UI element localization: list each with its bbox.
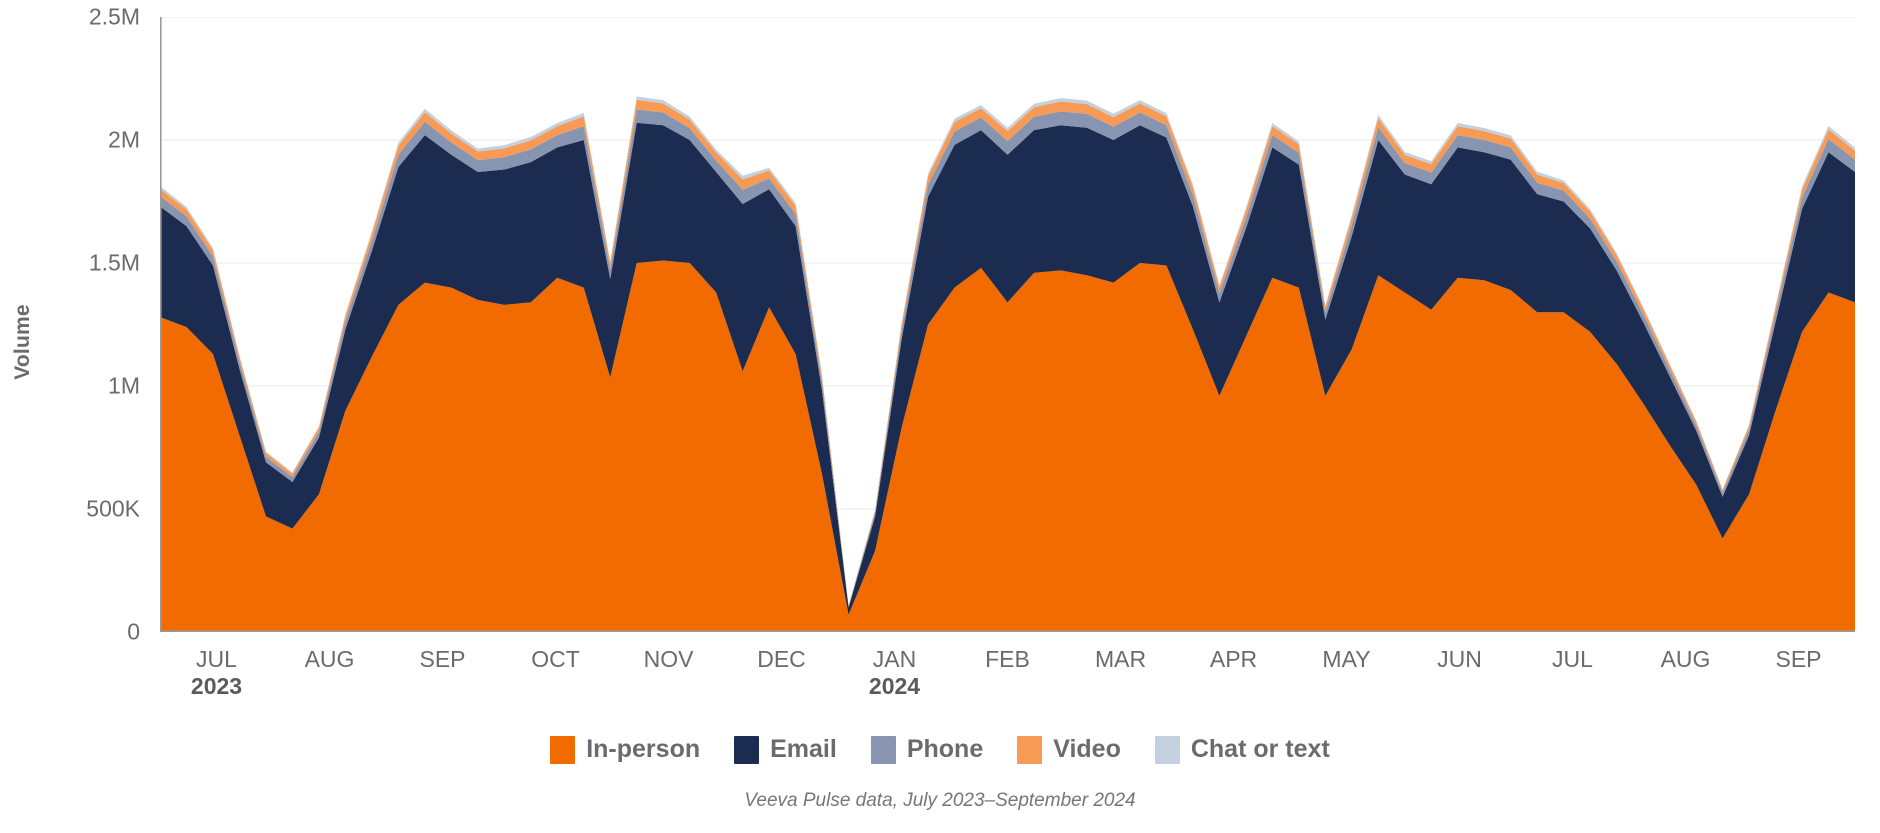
- x-tick-year: 2024: [869, 672, 920, 700]
- legend-swatch-icon: [734, 736, 759, 764]
- y-tick-label: 500K: [86, 496, 140, 523]
- plot-area: [160, 17, 1855, 632]
- x-tick-may-10: MAY: [1322, 632, 1370, 672]
- x-tick-sep-2: SEP: [419, 632, 465, 672]
- x-tick-month: MAY: [1322, 632, 1370, 672]
- x-tick-month: MAR: [1095, 632, 1146, 672]
- y-tick-label: 1M: [108, 373, 140, 400]
- y-tick-label: 0: [127, 619, 140, 646]
- y-tick-label: 2M: [108, 127, 140, 154]
- x-tick-apr-9: APR: [1210, 632, 1257, 672]
- x-tick-month: JUN: [1437, 632, 1482, 672]
- x-tick-sep-14: SEP: [1775, 632, 1821, 672]
- x-tick-month: OCT: [531, 632, 580, 672]
- x-tick-jul-12: JUL: [1552, 632, 1593, 672]
- legend-label: Video: [1053, 735, 1121, 764]
- legend-item-in-person[interactable]: In-person: [550, 735, 700, 764]
- y-axis-tick-labels: 0500K1M1.5M2M2.5M: [46, 0, 150, 833]
- x-tick-jul-0: JUL2023: [191, 632, 242, 700]
- legend-item-email[interactable]: Email: [734, 735, 837, 764]
- x-tick-oct-3: OCT: [531, 632, 580, 672]
- x-tick-month: FEB: [985, 632, 1030, 672]
- y-axis-title-label: Volume: [11, 304, 35, 380]
- x-tick-month: AUG: [1661, 632, 1711, 672]
- x-tick-jan-6: JAN2024: [869, 632, 920, 700]
- x-tick-month: AUG: [305, 632, 355, 672]
- x-tick-month: SEP: [419, 632, 465, 672]
- chart-root: Volume 0500K1M1.5M2M2.5M JUL2023AUGSEPOC…: [0, 0, 1880, 833]
- legend-swatch-icon: [871, 736, 896, 764]
- x-tick-aug-1: AUG: [305, 632, 355, 672]
- legend-label: Chat or text: [1191, 735, 1330, 764]
- x-tick-month: SEP: [1775, 632, 1821, 672]
- y-tick-label: 2.5M: [89, 4, 140, 31]
- legend-item-video[interactable]: Video: [1017, 735, 1121, 764]
- legend-swatch-icon: [1155, 736, 1180, 764]
- y-axis-title: Volume: [0, 287, 46, 397]
- legend-item-phone[interactable]: Phone: [871, 735, 983, 764]
- legend-swatch-icon: [1017, 736, 1042, 764]
- x-tick-month: JUL: [1552, 632, 1593, 672]
- x-tick-aug-13: AUG: [1661, 632, 1711, 672]
- x-tick-nov-4: NOV: [644, 632, 694, 672]
- x-tick-month: NOV: [644, 632, 694, 672]
- stacked-area-plot: [160, 17, 1855, 632]
- legend-label: Email: [770, 735, 837, 764]
- x-tick-dec-5: DEC: [757, 632, 806, 672]
- x-tick-feb-7: FEB: [985, 632, 1030, 672]
- chart-legend: In-personEmailPhoneVideoChat or text: [0, 735, 1880, 764]
- x-tick-month: JUL: [191, 632, 242, 672]
- legend-item-chat-or-text[interactable]: Chat or text: [1155, 735, 1330, 764]
- y-tick-label: 1.5M: [89, 250, 140, 277]
- chart-caption: Veeva Pulse data, July 2023–September 20…: [0, 790, 1880, 812]
- x-tick-mar-8: MAR: [1095, 632, 1146, 672]
- x-tick-jun-11: JUN: [1437, 632, 1482, 672]
- x-axis-tick-labels: JUL2023AUGSEPOCTNOVDECJAN2024FEBMARAPRMA…: [160, 632, 1855, 722]
- legend-label: In-person: [586, 735, 700, 764]
- x-tick-year: 2023: [191, 672, 242, 700]
- x-tick-month: DEC: [757, 632, 806, 672]
- legend-label: Phone: [907, 735, 983, 764]
- x-tick-month: APR: [1210, 632, 1257, 672]
- legend-swatch-icon: [550, 736, 575, 764]
- x-tick-month: JAN: [869, 632, 920, 672]
